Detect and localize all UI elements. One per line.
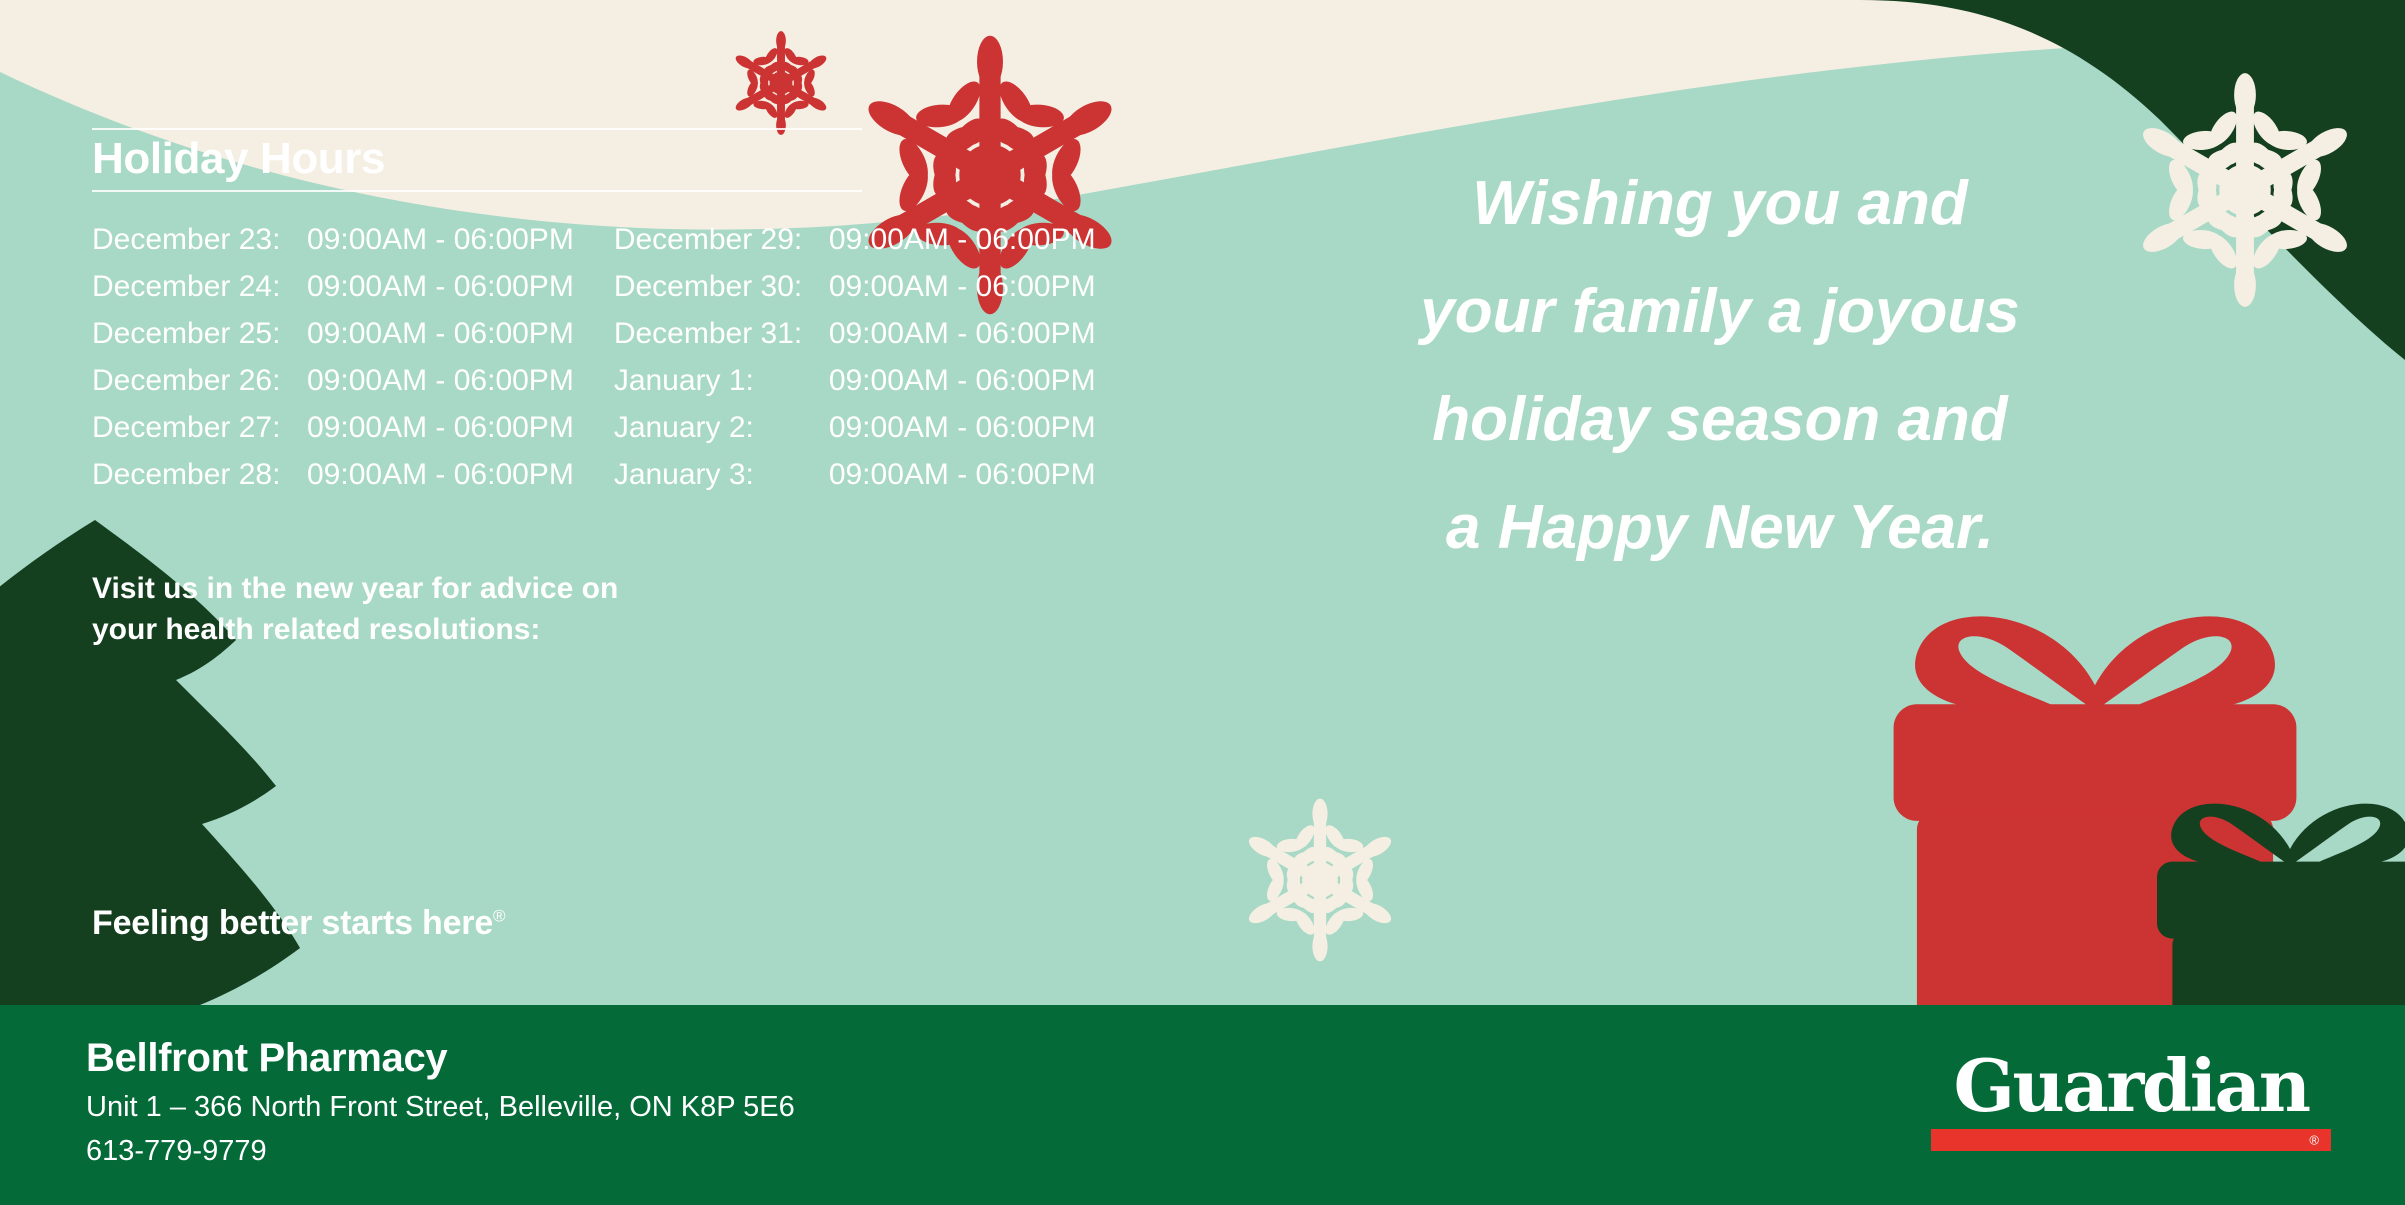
pharmacy-phone: 613-779-9779 — [86, 1129, 795, 1173]
hours-day: December 27: — [92, 404, 307, 451]
hours-time: 09:00AM - 06:00PM — [307, 310, 574, 357]
footer-bar: Bellfront Pharmacy Unit 1 – 366 North Fr… — [0, 1005, 2405, 1205]
pharmacy-address: Unit 1 – 366 North Front Street, Bellevi… — [86, 1085, 795, 1129]
hours-row: December 26: 09:00AM - 06:00PM — [92, 357, 574, 404]
hours-day: December 31: — [614, 310, 829, 357]
hours-row: December 29: 09:00AM - 06:00PM — [614, 216, 1096, 263]
greeting-line-3: holiday season and — [1330, 366, 2110, 474]
hours-title: Holiday Hours — [92, 130, 1122, 190]
hours-time: 09:00AM - 06:00PM — [307, 404, 574, 451]
hours-day: December 23: — [92, 216, 307, 263]
greeting-line-2: your family a joyous — [1330, 258, 2110, 366]
hours-day: December 29: — [614, 216, 829, 263]
hours-time: 09:00AM - 06:00PM — [307, 357, 574, 404]
hours-time: 09:00AM - 06:00PM — [829, 357, 1096, 404]
hours-time: 09:00AM - 06:00PM — [829, 451, 1096, 498]
hours-day: January 2: — [614, 404, 829, 451]
hours-row: December 30: 09:00AM - 06:00PM — [614, 263, 1096, 310]
hours-time: 09:00AM - 06:00PM — [829, 216, 1096, 263]
hours-time: 09:00AM - 06:00PM — [307, 216, 574, 263]
greeting-message: Wishing you and your family a joyous hol… — [1330, 150, 2110, 582]
hours-day: December 25: — [92, 310, 307, 357]
guardian-logo-bar: ® — [1931, 1129, 2331, 1151]
hours-grid: December 23: 09:00AM - 06:00PM December … — [92, 216, 1122, 498]
hours-row: December 27: 09:00AM - 06:00PM — [92, 404, 574, 451]
hours-row: January 1: 09:00AM - 06:00PM — [614, 357, 1096, 404]
pharmacy-name: Bellfront Pharmacy — [86, 1031, 795, 1085]
hours-day: January 3: — [614, 451, 829, 498]
hours-time: 09:00AM - 06:00PM — [307, 263, 574, 310]
visit-note: Visit us in the new year for advice on y… — [92, 568, 792, 650]
hours-row: December 24: 09:00AM - 06:00PM — [92, 263, 574, 310]
tagline-text: Feeling better starts here — [92, 904, 493, 942]
greeting-line-1: Wishing you and — [1330, 150, 2110, 258]
hours-time: 09:00AM - 06:00PM — [829, 263, 1096, 310]
visit-note-line-1: Visit us in the new year for advice on — [92, 568, 792, 609]
hours-row: December 31: 09:00AM - 06:00PM — [614, 310, 1096, 357]
hours-rule-bottom — [92, 190, 862, 192]
registered-mark: ® — [493, 907, 505, 926]
hours-row: January 2: 09:00AM - 06:00PM — [614, 404, 1096, 451]
pharmacy-info: Bellfront Pharmacy Unit 1 – 366 North Fr… — [86, 1031, 795, 1173]
hours-row: December 23: 09:00AM - 06:00PM — [92, 216, 574, 263]
hours-column-right: December 29: 09:00AM - 06:00PM December … — [614, 216, 1096, 498]
hours-day: December 26: — [92, 357, 307, 404]
hours-day: December 28: — [92, 451, 307, 498]
hours-time: 09:00AM - 06:00PM — [829, 310, 1096, 357]
tagline: Feeling better starts here® — [92, 904, 505, 943]
greeting-line-4: a Happy New Year. — [1330, 474, 2110, 582]
guardian-registered-mark: ® — [2309, 1134, 2319, 1147]
hours-day: December 30: — [614, 263, 829, 310]
hours-row: December 25: 09:00AM - 06:00PM — [92, 310, 574, 357]
holiday-hours-block: Holiday Hours December 23: 09:00AM - 06:… — [92, 128, 1122, 498]
visit-note-line-2: your health related resolutions: — [92, 609, 792, 650]
hours-row: December 28: 09:00AM - 06:00PM — [92, 451, 574, 498]
guardian-logo: Guardian ® — [1931, 1047, 2331, 1151]
hours-day: January 1: — [614, 357, 829, 404]
guardian-wordmark: Guardian — [1931, 1047, 2331, 1125]
hours-row: January 3: 09:00AM - 06:00PM — [614, 451, 1096, 498]
holiday-banner: Holiday Hours December 23: 09:00AM - 06:… — [0, 0, 2405, 1205]
hours-time: 09:00AM - 06:00PM — [307, 451, 574, 498]
hours-column-left: December 23: 09:00AM - 06:00PM December … — [92, 216, 574, 498]
hours-day: December 24: — [92, 263, 307, 310]
hours-time: 09:00AM - 06:00PM — [829, 404, 1096, 451]
